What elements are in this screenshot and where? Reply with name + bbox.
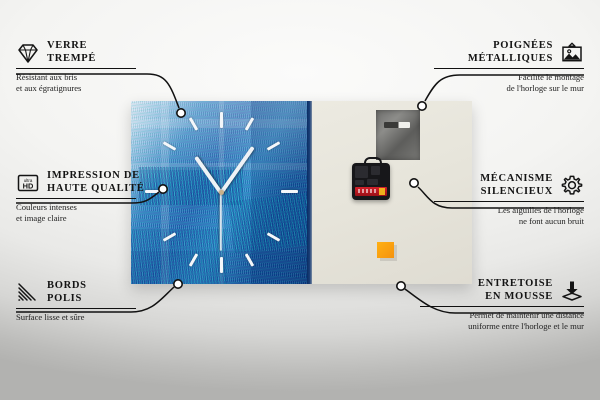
callout-description: Couleurs intenses et image claire (16, 202, 181, 223)
callout-header: POIGNÉES MÉTALLIQUES (434, 40, 584, 65)
hanger-keyhole-slot (384, 122, 410, 128)
callout-bords-polis[interactable]: BORDS POLIS Surface lisse et sûre (16, 280, 166, 323)
clock-tick (220, 257, 223, 273)
callout-rule (16, 68, 136, 69)
foam-spacer-icon (560, 279, 584, 303)
polished-edge-icon (16, 281, 40, 305)
callout-rule (434, 201, 584, 202)
callout-title-line1: BORDS (47, 280, 87, 293)
clock-second-hand (220, 192, 222, 250)
gear-icon (560, 174, 584, 198)
mechanism-detail (355, 180, 364, 185)
callout-header: MÉCANISME SILENCIEUX (434, 173, 584, 198)
picture-frame-hanger-icon (560, 41, 584, 65)
diamond-icon (16, 41, 40, 65)
mechanism-detail (367, 179, 378, 185)
callout-title-line1: POIGNÉES (468, 40, 553, 53)
callout-rule (420, 306, 584, 307)
clock-tick (220, 112, 223, 128)
callout-rule (434, 68, 584, 69)
callout-title-line2: EN MOUSSE (478, 291, 553, 304)
callout-poignees-metalliques[interactable]: POIGNÉES MÉTALLIQUES Facilite le montage… (434, 40, 584, 94)
foam-spacer (377, 242, 394, 258)
callout-title-line1: MÉCANISME (480, 173, 553, 186)
callout-title-line1: VERRE (47, 40, 96, 53)
callout-entretoise-en-mousse[interactable]: ENTRETOISE EN MOUSSE Permet de maintenir… (420, 278, 584, 332)
callout-description: Facilite le montage de l'horloge sur le … (434, 72, 584, 93)
clock-center-cap (219, 190, 224, 195)
mechanism-battery (355, 187, 387, 196)
callout-header: ENTRETOISE EN MOUSSE (420, 278, 584, 303)
battery-positive-terminal (379, 188, 385, 195)
pattern-teal (229, 193, 312, 253)
callout-header: VERRE TREMPÉ (16, 40, 166, 65)
metal-hanger-plate (376, 110, 420, 160)
callout-title-line2: POLIS (47, 293, 87, 306)
callout-title-line2: SILENCIEUX (480, 186, 553, 199)
callout-title-line2: HAUTE QUALITÉ (47, 183, 145, 196)
callout-rule (16, 308, 136, 309)
product-photo (131, 101, 472, 284)
battery-label (358, 189, 378, 193)
callout-description: Permet de maintenir une distance uniform… (420, 310, 584, 331)
callout-verre-trempe[interactable]: VERRE TREMPÉ Résistant aux bris et aux é… (16, 40, 166, 94)
mechanism-detail (371, 166, 380, 175)
callout-title-line1: ENTRETOISE (478, 278, 553, 291)
callout-mecanisme-silencieux[interactable]: MÉCANISME SILENCIEUX Les aiguilles de l'… (434, 173, 584, 227)
infographic-canvas: VERRE TREMPÉ Résistant aux bris et aux é… (0, 0, 600, 400)
callout-title-line2: TREMPÉ (47, 53, 96, 66)
svg-text:HD: HD (23, 181, 34, 190)
callout-description: Résistant aux bris et aux égratignures (16, 72, 166, 93)
callout-description: Les aiguilles de l'horloge ne font aucun… (434, 205, 584, 226)
callout-rule (16, 198, 136, 199)
clock-tick (281, 190, 298, 193)
callout-impression-hd[interactable]: ultra HD IMPRESSION DE HAUTE QUALITÉ Cou… (16, 170, 181, 224)
ultra-hd-icon: ultra HD (16, 171, 40, 195)
callout-header: BORDS POLIS (16, 280, 166, 305)
callout-header: ultra HD IMPRESSION DE HAUTE QUALITÉ (16, 170, 181, 195)
mechanism-detail (355, 166, 368, 178)
callout-description: Surface lisse et sûre (16, 312, 166, 323)
callout-title-line1: IMPRESSION DE (47, 170, 145, 183)
clock-mechanism (352, 163, 390, 200)
callout-title-line2: MÉTALLIQUES (468, 53, 553, 66)
